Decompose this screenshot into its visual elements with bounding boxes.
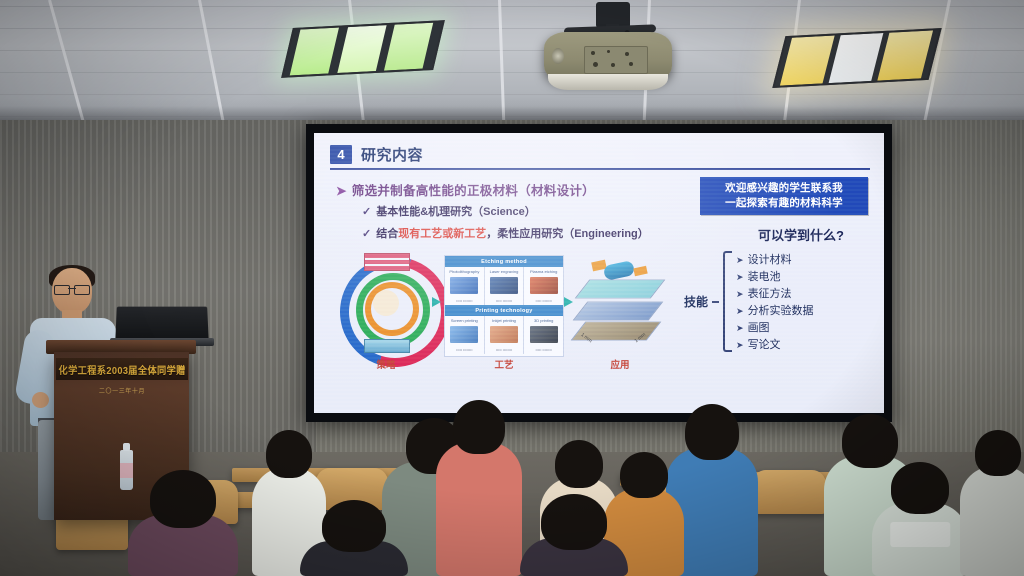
skill-label: 画图 bbox=[748, 322, 770, 334]
audience-printed-tee bbox=[872, 462, 968, 576]
skill-label: 分析实验数据 bbox=[748, 305, 814, 317]
skills-brace-icon bbox=[723, 251, 732, 352]
audience-torso bbox=[960, 466, 1024, 576]
podium-plaque-date: 二〇一三年十月 bbox=[99, 389, 145, 395]
light-panel-left-icon bbox=[281, 20, 445, 78]
slide-header: 4 研究内容 bbox=[330, 141, 870, 167]
audience-head bbox=[842, 414, 898, 468]
subbullet-2-post: ，柔性应用研究（Engineering） bbox=[486, 228, 649, 240]
slide-title: 研究内容 bbox=[361, 144, 423, 165]
process-cell-art bbox=[530, 326, 558, 343]
process-figure: Etching method Photolithography••••• •••… bbox=[444, 255, 564, 357]
process-cell-note: ••••• •••••••• bbox=[447, 349, 482, 353]
process-cell: Plasma etching••••• •••••••• bbox=[524, 267, 563, 305]
audience-head bbox=[150, 470, 216, 528]
skills-label: 技能 bbox=[684, 293, 708, 310]
slide-bullet-main: ➤筛选并制备高性能的正极材料（材料设计） bbox=[336, 180, 595, 199]
skill-arrow-icon: ➤ bbox=[736, 272, 744, 282]
audience-head bbox=[555, 440, 603, 488]
slide-subbullet-1: ✓基本性能&机理研究（Science） bbox=[362, 203, 536, 219]
process-cell: Screen printing••••• •••••••• bbox=[445, 316, 485, 354]
audience-head bbox=[266, 430, 312, 478]
check-marker-icon-2: ✓ bbox=[362, 228, 371, 240]
process-cell-note: ••••• •••••••• bbox=[487, 300, 522, 304]
caption-strategy: 策略 bbox=[350, 357, 422, 371]
process-cell: Laser engraving••••• •••••••• bbox=[485, 267, 525, 305]
audience-front-center bbox=[300, 500, 408, 576]
process-cell-art bbox=[490, 326, 518, 343]
projector-icon bbox=[538, 2, 678, 98]
audience-front-right bbox=[520, 494, 628, 576]
skill-item-6: ➤写论文 bbox=[736, 336, 814, 352]
skill-arrow-icon: ➤ bbox=[736, 306, 744, 316]
glasses-icon bbox=[54, 285, 90, 293]
audience-head bbox=[453, 400, 505, 454]
skill-label: 表征方法 bbox=[748, 288, 792, 300]
process-cell-art bbox=[450, 326, 478, 343]
process-cell-title: Laser engraving bbox=[487, 269, 522, 274]
caption-application: 应用 bbox=[584, 357, 656, 371]
bullet-main-text: 筛选并制备高性能的正极材料（材料设计） bbox=[352, 184, 595, 198]
audience-head bbox=[620, 452, 668, 498]
presentation-slide: 4 研究内容 ➤筛选并制备高性能的正极材料（材料设计） ✓基本性能&机理研究（S… bbox=[314, 133, 884, 413]
skill-label: 写论文 bbox=[748, 339, 781, 351]
application-figure: 1 mm 1 mm bbox=[576, 255, 662, 355]
process-cell-title: Plasma etching bbox=[526, 269, 561, 274]
process-header-2: Printing technology bbox=[445, 305, 563, 316]
slide-subbullet-2: ✓结合现有工艺或新工艺，柔性应用研究（Engineering） bbox=[362, 225, 649, 241]
process-cell: Photolithography••••• •••••••• bbox=[445, 267, 485, 305]
skill-arrow-icon: ➤ bbox=[736, 289, 744, 299]
process-cell-note: ••••• •••••••• bbox=[487, 349, 522, 353]
skill-item-3: ➤表征方法 bbox=[736, 285, 814, 301]
process-cell-title: 3D printing bbox=[526, 318, 561, 323]
skills-dash bbox=[712, 301, 719, 303]
bullet-marker-icon: ➤ bbox=[336, 184, 347, 198]
skills-list: ➤设计材料➤装电池➤表征方法➤分析实验数据➤画图➤写论文 bbox=[736, 251, 814, 352]
slide-section-number: 4 bbox=[330, 145, 352, 164]
skill-label: 设计材料 bbox=[748, 254, 792, 266]
light-panel-right-icon bbox=[772, 28, 941, 88]
check-marker-icon: ✓ bbox=[362, 206, 371, 218]
process-cell: 3D printing••••• •••••••• bbox=[524, 316, 563, 354]
audience-far-right-edge bbox=[960, 430, 1024, 576]
arrow-icon-1 bbox=[432, 297, 441, 307]
speaker-hand bbox=[32, 392, 49, 408]
skill-item-1: ➤设计材料 bbox=[736, 251, 814, 267]
audience-red-shirt bbox=[436, 400, 522, 576]
process-cell: Inkjet printing••••• •••••••• bbox=[485, 316, 525, 354]
process-cell-note: ••••• •••••••• bbox=[447, 300, 482, 304]
strategy-figure bbox=[340, 257, 432, 349]
shirt-print bbox=[890, 522, 950, 547]
process-cell-title: Inkjet printing bbox=[487, 318, 522, 323]
skill-item-2: ➤装电池 bbox=[736, 268, 814, 284]
audience-head bbox=[322, 500, 386, 552]
projection-screen: 4 研究内容 ➤筛选并制备高性能的正极材料（材料设计） ✓基本性能&机理研究（S… bbox=[306, 124, 892, 422]
contact-callout-box: 欢迎感兴趣的学生联系我 一起探索有趣的材料科学 bbox=[700, 177, 868, 215]
lecture-hall-photo: 4 研究内容 ➤筛选并制备高性能的正极材料（材料设计） ✓基本性能&机理研究（S… bbox=[0, 0, 1024, 576]
process-cell-art bbox=[490, 277, 518, 294]
arrow-icon-2 bbox=[564, 297, 573, 307]
process-cell-art bbox=[450, 277, 478, 294]
slide-header-rule bbox=[330, 168, 870, 170]
chair-right-2 bbox=[752, 470, 826, 514]
process-cell-title: Screen printing bbox=[447, 318, 482, 323]
audience-torso bbox=[436, 442, 522, 576]
podium-plaque-sub: 二〇一三年十月 bbox=[56, 380, 188, 398]
skill-arrow-icon: ➤ bbox=[736, 255, 744, 265]
audience-purple-front bbox=[128, 470, 238, 576]
process-cell-note: ••••• •••••••• bbox=[526, 300, 561, 304]
audience-head bbox=[975, 430, 1021, 476]
skill-arrow-icon: ➤ bbox=[736, 323, 744, 333]
audience-head bbox=[541, 494, 607, 550]
skills-tree: 技能 ➤设计材料➤装电池➤表征方法➤分析实验数据➤画图➤写论文 bbox=[684, 251, 870, 352]
skill-arrow-icon: ➤ bbox=[736, 340, 744, 350]
caption-process: 工艺 bbox=[468, 357, 540, 371]
skill-item-4: ➤分析实验数据 bbox=[736, 302, 814, 318]
skill-item-5: ➤画图 bbox=[736, 319, 814, 335]
process-cell-art bbox=[530, 277, 558, 294]
question-heading: 可以学到什么? bbox=[758, 225, 844, 244]
process-cell-title: Photolithography bbox=[447, 269, 482, 274]
figure-row: Etching method Photolithography••••• •••… bbox=[332, 253, 662, 373]
subbullet-2-pre: 结合 bbox=[376, 228, 398, 240]
skill-label: 装电池 bbox=[748, 271, 781, 283]
podium-plaque-text: 化学工程系2003届全体同学赠 bbox=[58, 362, 185, 377]
callout-line-1: 欢迎感兴趣的学生联系我 bbox=[706, 181, 862, 196]
subbullet-1-text: 基本性能&机理研究（Science） bbox=[376, 206, 536, 218]
process-cell-note: ••••• •••••••• bbox=[526, 349, 561, 353]
ceiling bbox=[0, 0, 1024, 132]
podium-plaque: 化学工程系2003届全体同学赠 bbox=[56, 358, 188, 380]
audience-head bbox=[685, 404, 739, 460]
process-header-1: Etching method bbox=[445, 256, 563, 267]
audience-head bbox=[891, 462, 949, 514]
callout-line-2: 一起探索有趣的材料科学 bbox=[706, 196, 862, 211]
subbullet-2-highlight: 现有工艺或新工艺 bbox=[398, 228, 486, 240]
